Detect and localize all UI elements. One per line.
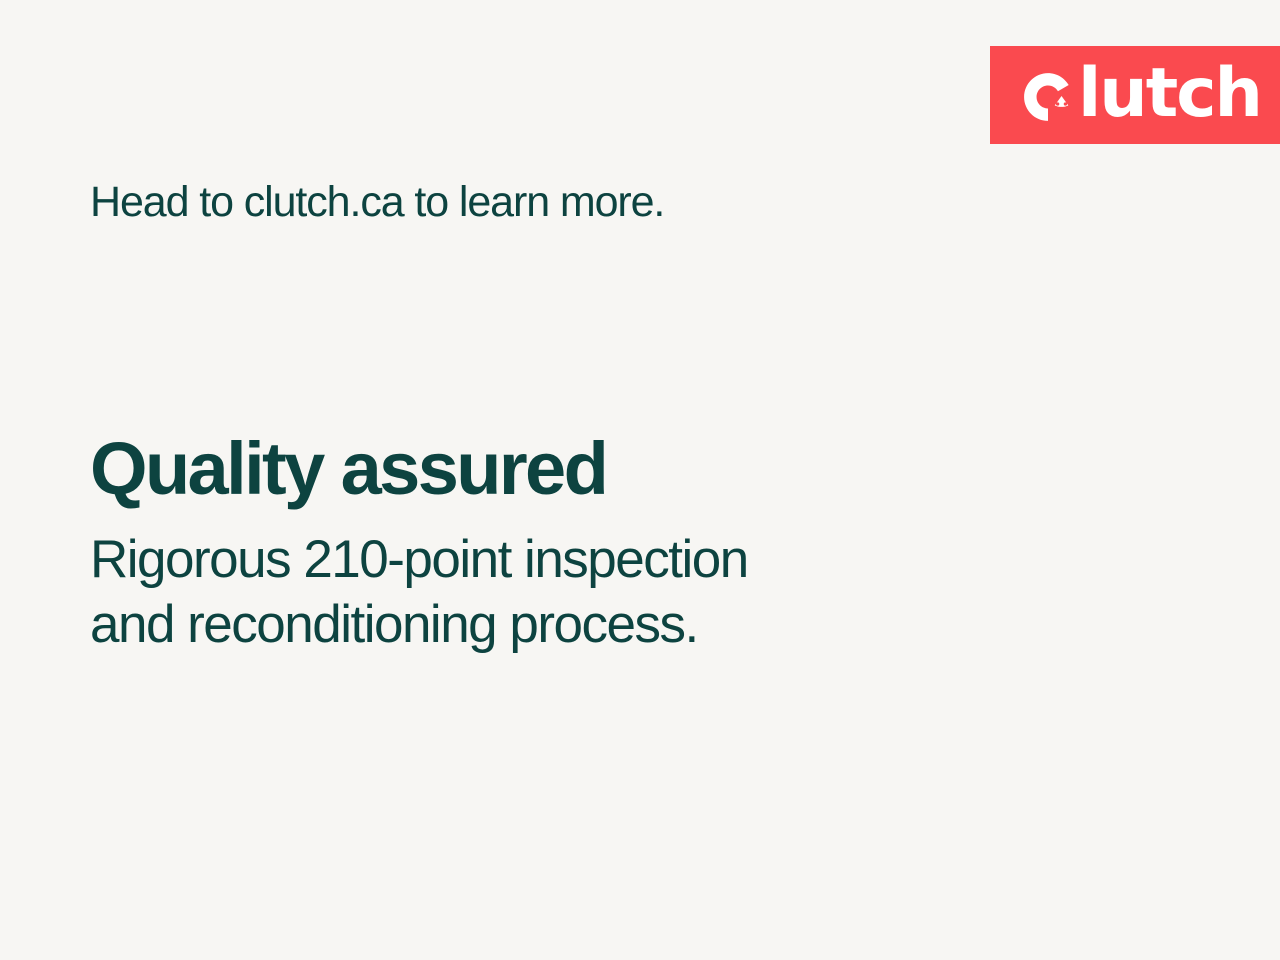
subheadline: Rigorous 210-point inspection and recond… (90, 528, 990, 657)
subheadline-line-1: Rigorous 210-point inspection (90, 528, 990, 593)
subheadline-line-2: and reconditioning process. (90, 593, 990, 658)
headline-block: Quality assured Rigorous 210-point inspe… (90, 432, 990, 657)
cta-text: Head to clutch.ca to learn more. (90, 178, 664, 227)
page-title: Quality assured (90, 432, 990, 506)
clutch-brand-banner: lutch (990, 46, 1280, 144)
clutch-logo: lutch (1022, 63, 1261, 128)
clutch-c-logomark-icon (1022, 71, 1074, 123)
slide-canvas: lutch Head to clutch.ca to learn more. Q… (0, 0, 1280, 960)
clutch-wordmark: lutch (1078, 60, 1261, 128)
